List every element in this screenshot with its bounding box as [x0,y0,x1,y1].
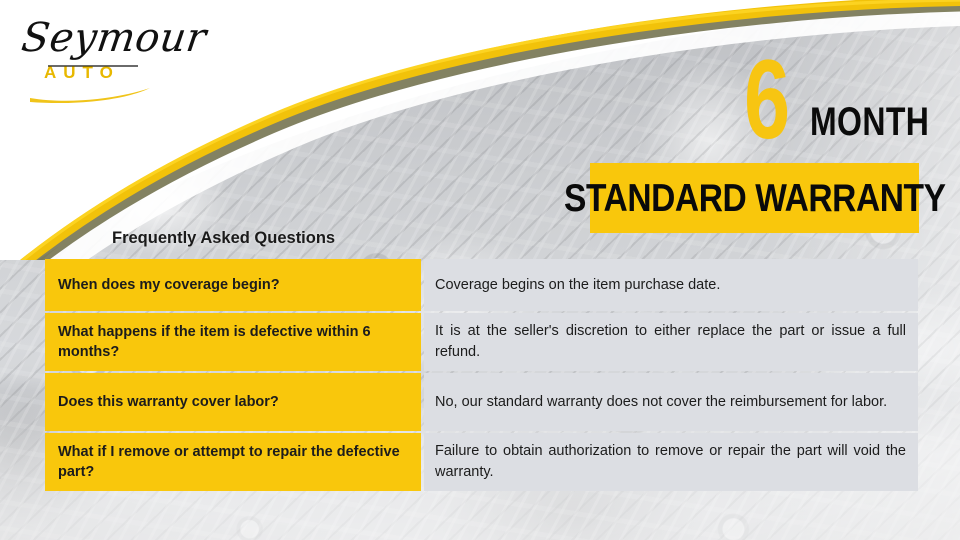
faq-answer-cell: Failure to obtain authorization to remov… [424,433,918,491]
duration-unit: MONTH [810,102,929,142]
warranty-slide: Seymour AUTO 6 MONTH STANDARD WARRANTY F… [0,0,960,540]
faq-question-cell: When does my coverage begin? [45,259,421,311]
faq-answer-text: It is at the seller's discretion to eith… [435,321,906,362]
faq-question-text: Does this warranty cover labor? [58,392,279,412]
faq-answer-cell: It is at the seller's discretion to eith… [424,313,918,371]
brand-logo[interactable]: Seymour AUTO [18,16,198,102]
brand-name: Seymour [19,18,209,58]
brand-subtitle: AUTO [44,64,120,81]
faq-answer-cell: No, our standard warranty does not cover… [424,373,918,431]
table-row: When does my coverage begin? Coverage be… [45,259,918,311]
faq-answer-cell: Coverage begins on the item purchase dat… [424,259,918,311]
warranty-duration: 6 MONTH [744,46,934,156]
faq-question-text: What happens if the item is defective wi… [58,322,408,362]
table-row: What if I remove or attempt to repair th… [45,433,918,491]
faq-question-text: What if I remove or attempt to repair th… [58,442,408,482]
faq-section-title: Frequently Asked Questions [112,230,335,247]
faq-answer-text: Failure to obtain authorization to remov… [435,441,906,482]
faq-question-text: When does my coverage begin? [58,275,280,295]
banner-title: STANDARD WARRANTY [564,179,945,218]
table-row: Does this warranty cover labor? No, our … [45,373,918,431]
faq-table: When does my coverage begin? Coverage be… [45,259,918,491]
faq-question-cell: What if I remove or attempt to repair th… [45,433,421,491]
faq-answer-text: Coverage begins on the item purchase dat… [435,275,906,296]
faq-question-cell: What happens if the item is defective wi… [45,313,421,371]
faq-answer-text: No, our standard warranty does not cover… [435,392,906,413]
standard-warranty-banner: STANDARD WARRANTY [590,163,919,233]
duration-number: 6 [744,44,789,156]
table-row: What happens if the item is defective wi… [45,313,918,371]
faq-question-cell: Does this warranty cover labor? [45,373,421,431]
